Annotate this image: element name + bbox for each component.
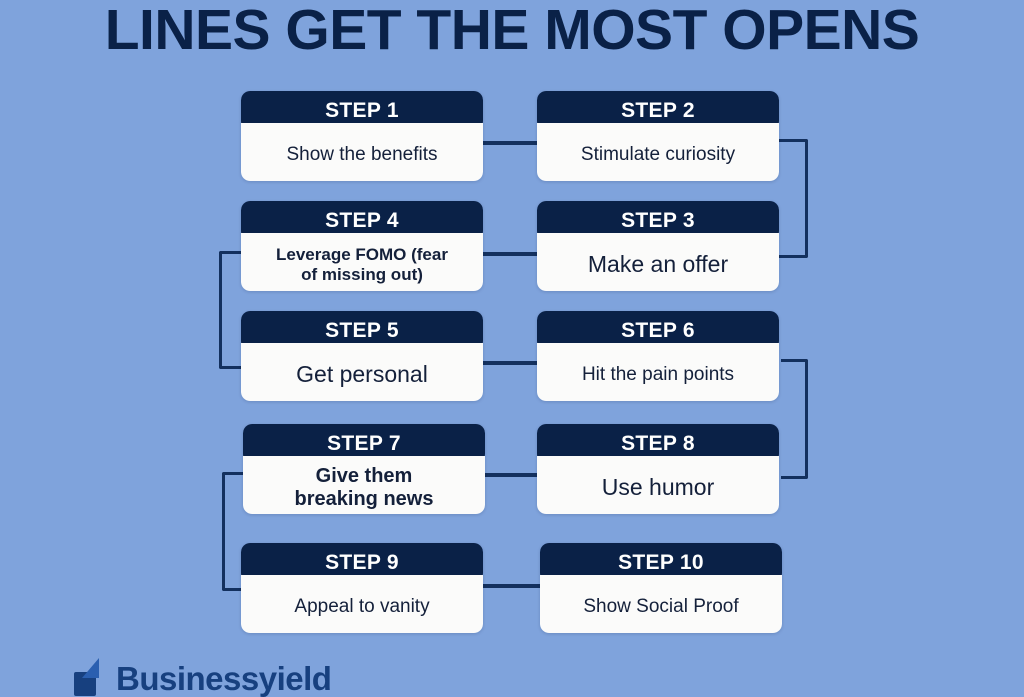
step-card-9[interactable]: STEP 9 Appeal to vanity: [241, 543, 483, 633]
step-5-line-1: Get personal: [296, 362, 428, 388]
step-2-body: Stimulate curiosity: [537, 123, 779, 181]
connector-bracket-step2-step3: [779, 139, 808, 258]
step-6-line-1: Hit the pain points: [582, 364, 734, 385]
step-card-3[interactable]: STEP 3 Make an offer: [537, 201, 779, 291]
step-3-body: Make an offer: [537, 233, 779, 291]
arrow-logo-mark-icon: [74, 658, 114, 696]
step-4-line-2: of missing out): [276, 265, 448, 284]
step-5-body: Get personal: [241, 343, 483, 401]
step-8-line-1: Use humor: [602, 475, 714, 501]
step-9-body: Appeal to vanity: [241, 575, 483, 633]
step-card-2[interactable]: STEP 2 Stimulate curiosity: [537, 91, 779, 181]
step-4-body: Leverage FOMO (fear of missing out): [241, 233, 483, 291]
step-card-6[interactable]: STEP 6 Hit the pain points: [537, 311, 779, 401]
connector-step4-step3: [483, 252, 540, 256]
step-10-line-1: Show Social Proof: [583, 596, 738, 617]
step-7-line-2: breaking news: [295, 488, 434, 510]
connector-step9-step10: [483, 584, 540, 588]
step-card-4[interactable]: STEP 4 Leverage FOMO (fear of missing ou…: [241, 201, 483, 291]
step-9-line-1: Appeal to vanity: [294, 596, 429, 617]
logo-arrow-shape: [82, 658, 99, 678]
step-2-line-1: Stimulate curiosity: [581, 144, 735, 165]
step-card-8[interactable]: STEP 8 Use humor: [537, 424, 779, 514]
brand-logo-text: Businessyield: [116, 662, 331, 696]
step-10-body: Show Social Proof: [540, 575, 782, 633]
step-6-body: Hit the pain points: [537, 343, 779, 401]
step-8-body: Use humor: [537, 456, 779, 514]
step-1-line-1: Show the benefits: [286, 144, 437, 165]
step-1-body: Show the benefits: [241, 123, 483, 181]
step-3-line-1: Make an offer: [588, 252, 728, 278]
step-card-10[interactable]: STEP 10 Show Social Proof: [540, 543, 782, 633]
connector-bracket-step6-step7: [781, 359, 808, 479]
brand-logo: Businessyield: [74, 652, 331, 696]
steps-flow-diagram: STEP 1 Show the benefits STEP 2 Stimulat…: [0, 0, 1024, 680]
connector-step7-step8: [485, 473, 540, 477]
step-card-5[interactable]: STEP 5 Get personal: [241, 311, 483, 401]
step-7-line-1: Give them: [295, 465, 434, 487]
step-card-7[interactable]: STEP 7 Give them breaking news: [243, 424, 485, 514]
connector-step5-step6: [483, 361, 540, 365]
step-7-body: Give them breaking news: [243, 456, 485, 514]
step-card-1[interactable]: STEP 1 Show the benefits: [241, 91, 483, 181]
connector-step1-step2: [483, 141, 540, 145]
step-4-line-1: Leverage FOMO (fear: [276, 245, 448, 264]
